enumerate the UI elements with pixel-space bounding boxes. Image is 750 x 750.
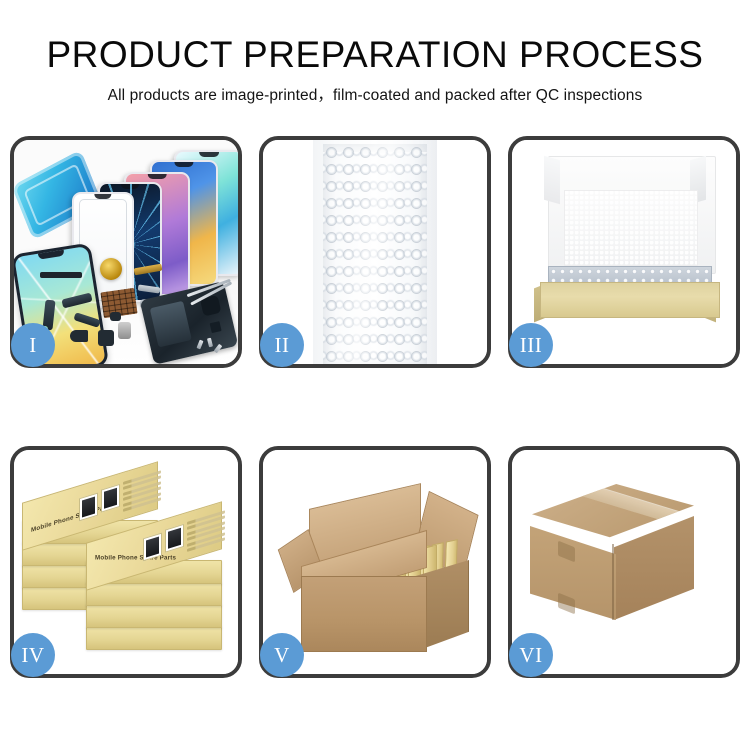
step-badge-iv: IV: [11, 633, 55, 677]
step-badge-vi: VI: [509, 633, 553, 677]
retail-box-brand-label: Mobile Phone Spare Parts: [95, 555, 176, 562]
plastic-sheen: [313, 140, 437, 364]
carton-front-panel: [301, 576, 427, 652]
step-badge-iii: III: [509, 323, 553, 367]
retail-box-spec-list: [123, 470, 161, 514]
retail-box-side: [86, 582, 222, 606]
retail-box-product-photo: [165, 524, 184, 553]
camera-module-icon: [98, 330, 114, 346]
process-step-grid: I II III: [10, 136, 740, 678]
sim-tray-icon: [118, 322, 131, 339]
retail-box-product-photo: [101, 484, 120, 513]
retail-box-side: [86, 626, 222, 650]
page-title: PRODUCT PREPARATION PROCESS: [0, 0, 750, 75]
earpiece-strip-icon: [40, 272, 82, 278]
step-badge-ii: II: [260, 323, 304, 367]
carton-edge-seam: [612, 544, 614, 620]
retail-box-side: [86, 604, 222, 628]
step-panel-iii: III: [508, 136, 740, 368]
page-subtitle: All products are image-printed，film-coat…: [0, 75, 750, 105]
foam-pad: [564, 190, 698, 266]
step-badge-v: V: [260, 633, 304, 677]
retail-box-product-photo: [79, 493, 98, 522]
box-lid-flap-left: [544, 156, 560, 205]
retail-box-stack: Mobile Phone Spare Parts Mobile Phone Sp…: [16, 464, 238, 664]
step-panel-i: I: [10, 136, 242, 368]
open-shipping-carton: [283, 486, 475, 656]
small-component-icon: [110, 312, 121, 321]
sealed-shipping-carton: [528, 484, 728, 652]
infographic-page: PRODUCT PREPARATION PROCESS All products…: [0, 0, 750, 750]
vibrator-motor-icon: [70, 330, 88, 342]
speaker-module-icon: [100, 258, 122, 280]
retail-box-spec-list: [187, 510, 225, 554]
step-panel-ii: II: [259, 136, 491, 368]
step-panel-vi: VI: [508, 446, 740, 678]
box-tray-front: [540, 282, 720, 318]
packing-tape: [559, 476, 686, 527]
step-panel-v: V: [259, 446, 491, 678]
screws-icon: [196, 338, 226, 356]
carton-side-panel: [614, 516, 694, 620]
step-badge-i: I: [11, 323, 55, 367]
step-panel-iv: Mobile Phone Spare Parts Mobile Phone Sp…: [10, 446, 242, 678]
header: PRODUCT PREPARATION PROCESS All products…: [0, 0, 750, 105]
